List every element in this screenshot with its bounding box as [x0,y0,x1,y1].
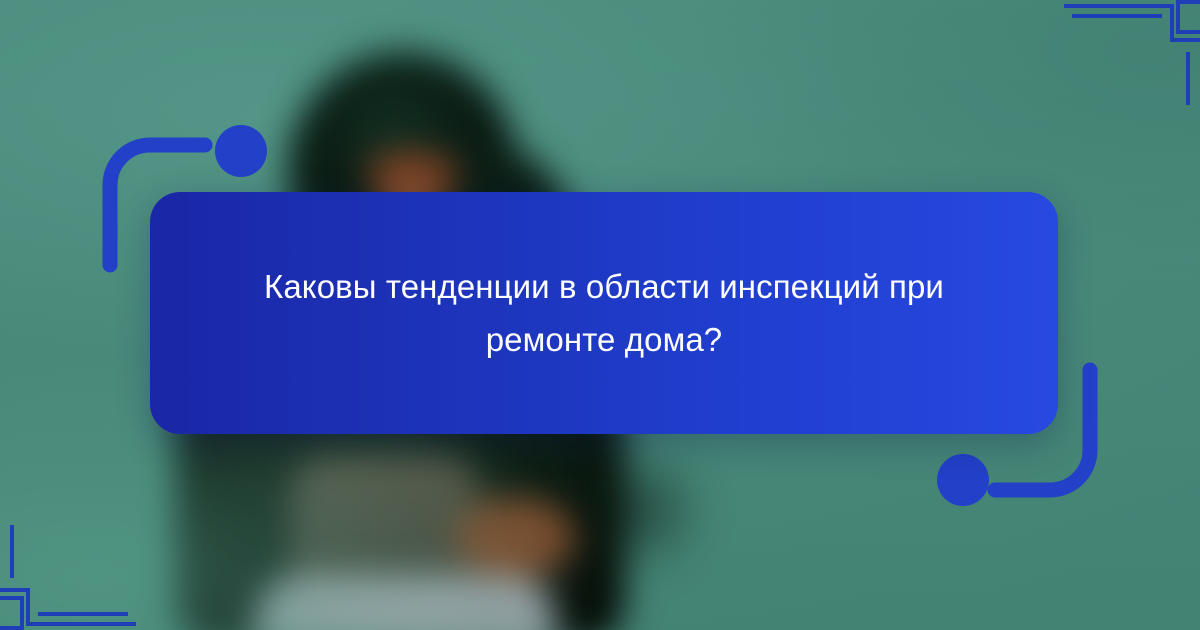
accent-dot-bottom-right [937,454,989,506]
accent-dot-top-left [215,125,267,177]
banner-canvas: Каковы тенденции в области инспекций при… [0,0,1200,630]
question-text: Каковы тенденции в области инспекций при… [212,260,996,367]
question-card: Каковы тенденции в области инспекций при… [150,192,1058,434]
